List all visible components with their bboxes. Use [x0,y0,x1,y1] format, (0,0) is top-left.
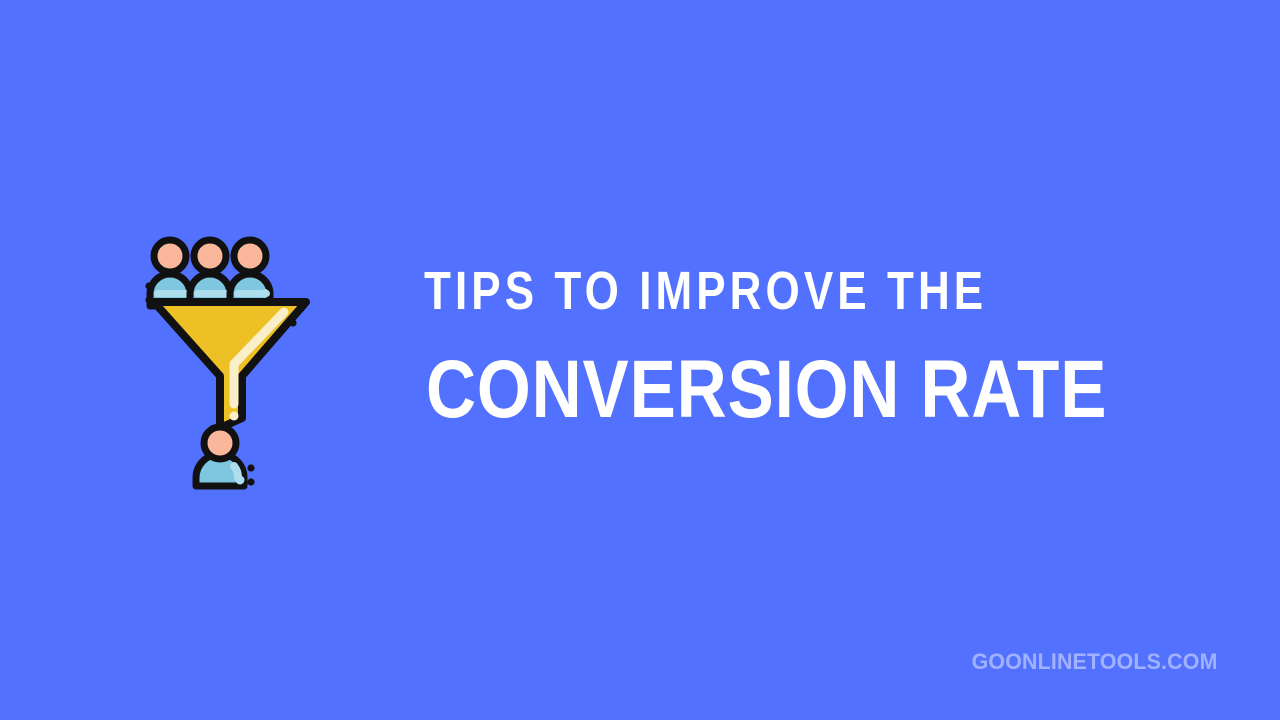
conversion-funnel-illustration [138,228,318,490]
headline-line-1: TIPS TO IMPROVE THE [424,262,1076,320]
watermark-brand: GOONLINETOOLS.COM [972,649,1218,675]
headline-line-2: CONVERSION RATE [426,347,1107,433]
person-top-middle [190,240,230,306]
banner-canvas: TIPS TO IMPROVE THE CONVERSION RATE GOON… [0,0,1280,720]
people-group-top [145,240,270,306]
person-bottom [196,427,255,486]
headline-block: TIPS TO IMPROVE THE CONVERSION RATE [424,262,1224,320]
person-top-right [230,240,270,306]
person-top-left [150,240,190,306]
funnel-shape [154,302,306,428]
